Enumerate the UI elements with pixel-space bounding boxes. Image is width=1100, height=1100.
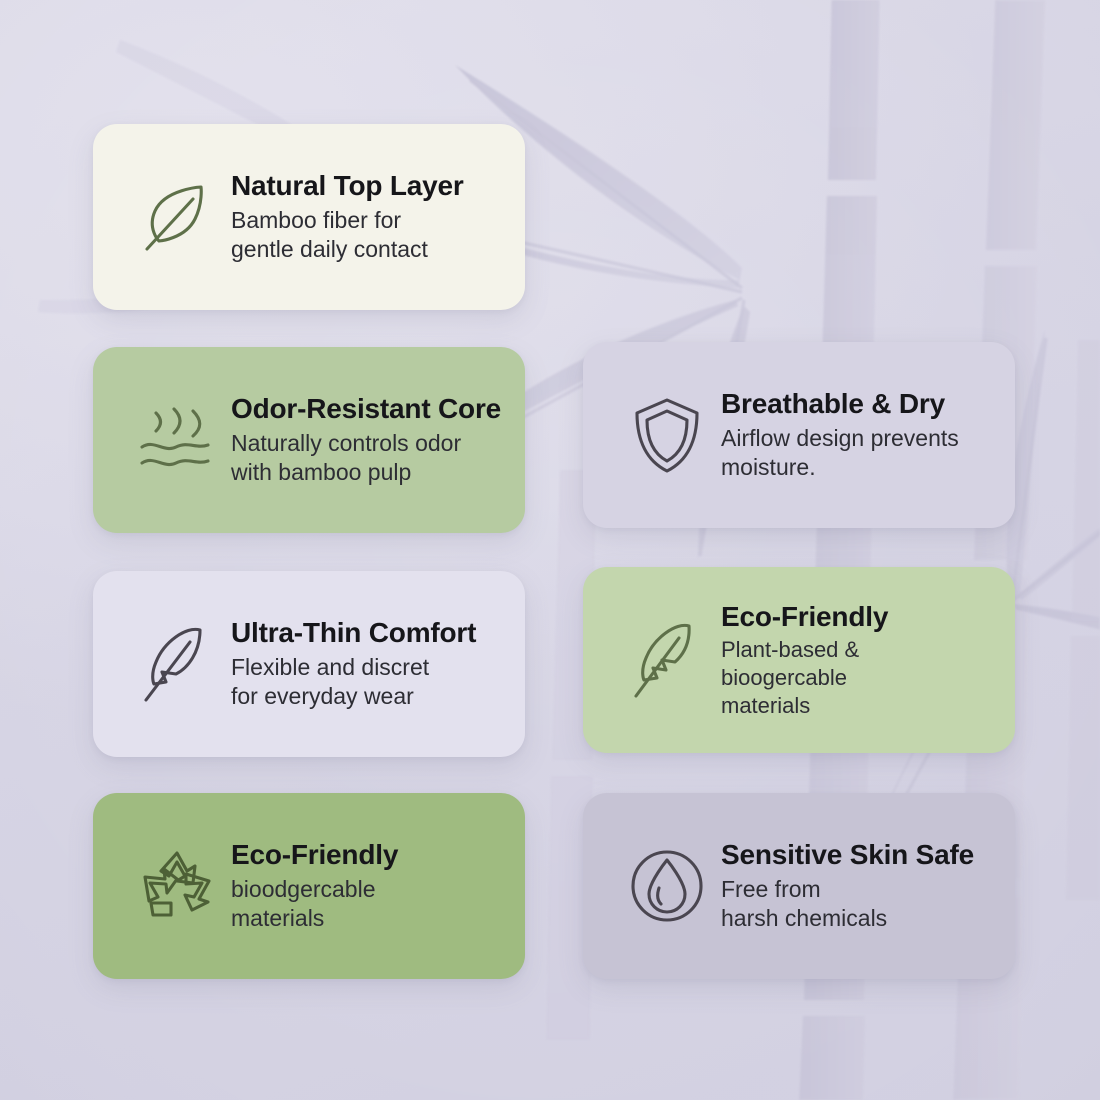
feature-card-text: Ultra-Thin Comfort Flexible and discret …	[231, 617, 476, 710]
feather-icon	[613, 618, 721, 702]
card-title: Eco-Friendly	[721, 601, 888, 632]
feature-card-odor-resistant-core[interactable]: Odor-Resistant Core Naturally controls o…	[93, 347, 525, 533]
feature-card-text: Natural Top Layer Bamboo fiber for gentl…	[231, 170, 464, 263]
feature-card-natural-top-layer[interactable]: Natural Top Layer Bamboo fiber for gentl…	[93, 124, 525, 310]
shield-icon	[613, 395, 721, 475]
odor-waves-icon	[123, 405, 231, 475]
feature-card-text: Eco-Friendly Plant-based & bioogercable …	[721, 601, 888, 720]
recycle-icon	[123, 847, 231, 925]
feature-card-text: Eco-Friendly bioodgercable materials	[231, 839, 398, 932]
card-title: Ultra-Thin Comfort	[231, 617, 476, 648]
card-description: Free from harsh chemicals	[721, 875, 974, 933]
card-title: Sensitive Skin Safe	[721, 839, 974, 870]
card-description: Bamboo fiber for gentle daily contact	[231, 206, 464, 264]
feature-card-breathable-and-dry[interactable]: Breathable & Dry Airflow design prevents…	[583, 342, 1015, 528]
feature-card-text: Breathable & Dry Airflow design prevents…	[721, 388, 959, 481]
card-description: Plant-based & bioogercable materials	[721, 636, 888, 719]
leaf-icon	[123, 179, 231, 255]
card-title: Natural Top Layer	[231, 170, 464, 201]
card-description: bioodgercable materials	[231, 875, 398, 933]
card-description: Naturally controls odor with bamboo pulp	[231, 429, 501, 487]
feature-card-ultra-thin-comfort[interactable]: Ultra-Thin Comfort Flexible and discret …	[93, 571, 525, 757]
feature-card-text: Odor-Resistant Core Naturally controls o…	[231, 393, 501, 486]
feature-card-eco-friendly-recycle[interactable]: Eco-Friendly bioodgercable materials	[93, 793, 525, 979]
card-description: Flexible and discret for everyday wear	[231, 653, 476, 711]
card-title: Breathable & Dry	[721, 388, 959, 419]
feature-card-eco-friendly-feather[interactable]: Eco-Friendly Plant-based & bioogercable …	[583, 567, 1015, 753]
infographic-canvas: Natural Top Layer Bamboo fiber for gentl…	[0, 0, 1100, 1100]
water-drop-icon	[613, 846, 721, 926]
feature-card-text: Sensitive Skin Safe Free from harsh chem…	[721, 839, 974, 932]
feather-icon	[123, 622, 231, 706]
card-description: Airflow design prevents moisture.	[721, 424, 959, 482]
feature-card-sensitive-skin-safe[interactable]: Sensitive Skin Safe Free from harsh chem…	[583, 793, 1015, 979]
card-title: Eco-Friendly	[231, 839, 398, 870]
card-title: Odor-Resistant Core	[231, 393, 501, 424]
